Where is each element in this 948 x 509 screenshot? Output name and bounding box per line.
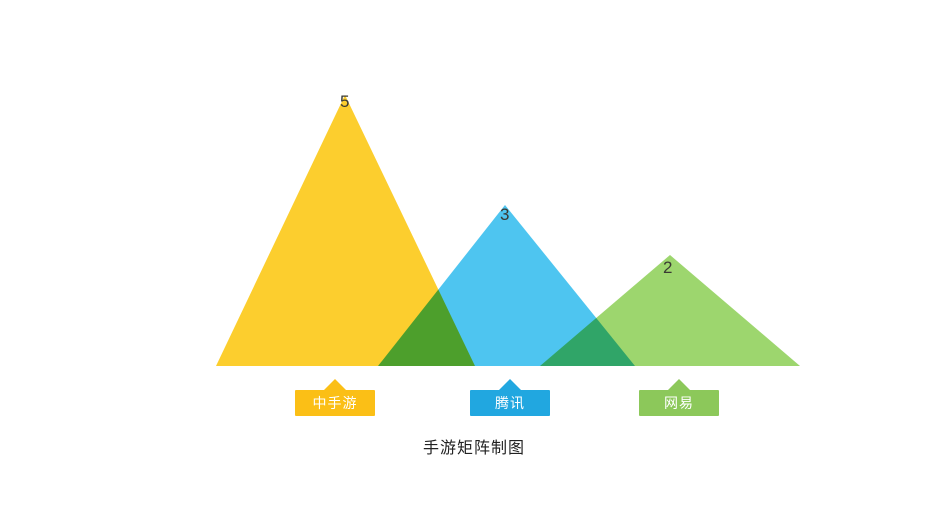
- category-label-tencent[interactable]: 腾讯: [470, 390, 550, 416]
- pointer-triangle-icon: [324, 379, 346, 390]
- category-label-text: 腾讯: [470, 390, 550, 416]
- category-label-zhongshouyou[interactable]: 中手游: [295, 390, 375, 416]
- category-label-text: 网易: [639, 390, 719, 416]
- mountain-chart-svg: [0, 0, 948, 509]
- category-label-text: 中手游: [295, 390, 375, 416]
- category-label-netease[interactable]: 网易: [639, 390, 719, 416]
- chart-canvas: 5 3 2 中手游 腾讯 网易 手游矩阵制图: [0, 0, 948, 509]
- pointer-triangle-icon: [499, 379, 521, 390]
- chart-title: 手游矩阵制图: [0, 434, 948, 458]
- pointer-triangle-icon: [668, 379, 690, 390]
- triangle-group: [216, 95, 800, 366]
